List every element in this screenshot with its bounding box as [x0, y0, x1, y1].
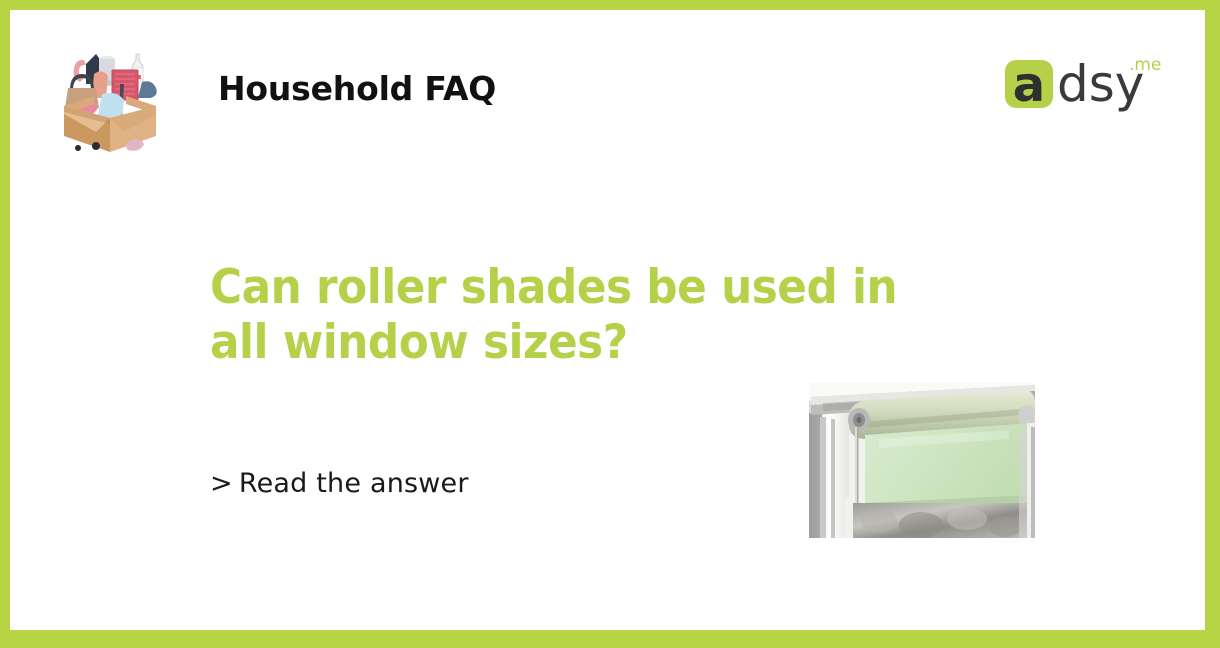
- read-answer-link[interactable]: >Read the answer: [210, 468, 469, 499]
- card-inner: Household FAQ a dsy .me Can roller shade…: [10, 10, 1205, 630]
- adsy-logo: a dsy .me: [1005, 48, 1170, 120]
- headline-line-2: all window sizes?: [210, 315, 982, 370]
- roller-shade-photo: [809, 383, 1035, 538]
- read-answer-label: Read the answer: [239, 468, 469, 499]
- logo-mark-letter: a: [1013, 57, 1045, 113]
- logo-tld: .me: [1129, 55, 1161, 75]
- roller-shade-illustration: [809, 383, 1035, 538]
- page-title: Household FAQ: [218, 69, 496, 108]
- brand-block: Household FAQ: [50, 22, 496, 154]
- headline: Can roller shades be used in all window …: [210, 260, 982, 371]
- faq-card: Household FAQ a dsy .me Can roller shade…: [0, 0, 1220, 648]
- header: Household FAQ a dsy .me: [10, 10, 1205, 170]
- household-box-illustration: [50, 22, 170, 154]
- headline-line-1: Can roller shades be used in: [210, 260, 982, 315]
- chevron-right-icon: >: [210, 468, 233, 499]
